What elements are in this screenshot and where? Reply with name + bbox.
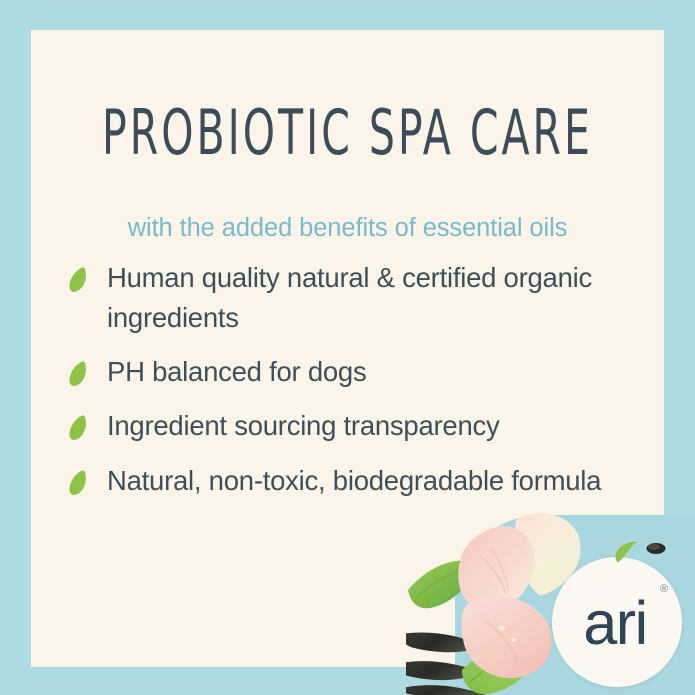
list-item-label: Ingredient sourcing transparency bbox=[107, 406, 500, 446]
leaf-bullet-icon bbox=[69, 414, 88, 442]
benefits-list: Human quality natural & certified organi… bbox=[69, 258, 659, 515]
logo-wordmark: ari bbox=[583, 593, 646, 654]
leaf-bullet-icon bbox=[69, 360, 88, 388]
list-item-label: Natural, non-toxic, biodegradable formul… bbox=[107, 461, 601, 501]
list-item: Natural, non-toxic, biodegradable formul… bbox=[69, 461, 659, 501]
poster-canvas: PROBIOTIC SPA CARE with the added benefi… bbox=[0, 0, 695, 695]
leaf-bullet-icon bbox=[69, 266, 88, 294]
brand-logo[interactable]: ari ® bbox=[552, 557, 682, 687]
vanilla-bean-tip-icon bbox=[646, 542, 666, 555]
registered-trademark-mark: ® bbox=[660, 584, 668, 595]
list-item-label: Human quality natural & certified organi… bbox=[107, 258, 659, 338]
list-item-label: PH balanced for dogs bbox=[107, 352, 366, 392]
page-title: PROBIOTIC SPA CARE bbox=[75, 102, 619, 165]
list-item: Human quality natural & certified organi… bbox=[69, 258, 659, 338]
leaf-bullet-icon bbox=[69, 469, 88, 497]
page-subtitle: with the added benefits of essential oil… bbox=[31, 216, 664, 242]
list-item: Ingredient sourcing transparency bbox=[69, 406, 659, 446]
logo-leaf-icon bbox=[613, 541, 639, 563]
list-item: PH balanced for dogs bbox=[69, 352, 659, 392]
